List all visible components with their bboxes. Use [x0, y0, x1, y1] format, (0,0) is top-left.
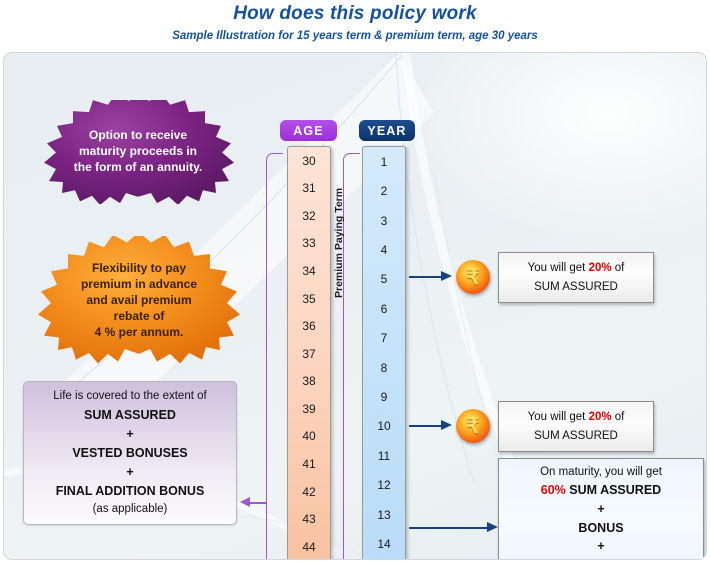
coverage-line-1: Life is covered to the extent of — [53, 388, 206, 405]
premium-paying-term-bracket — [343, 153, 360, 560]
payout-box-year-10: You will get 20% of SUM ASSURED — [498, 401, 654, 452]
life-coverage-box: Life is covered to the extent of SUM ASS… — [23, 381, 237, 525]
payout-2-suffix: of — [612, 411, 625, 423]
coverage-line-6: FINAL ADDITION BONUS — [56, 482, 205, 501]
payout-1-arrow-head-icon — [441, 271, 452, 281]
age-cell: 33 — [288, 230, 330, 258]
year-cell: 15 — [363, 559, 405, 560]
callout-rebate-line-4: rebate of — [59, 309, 219, 325]
callout-premium-rebate: Flexibility to pay premium in advance an… — [28, 236, 250, 366]
maturity-line-4: BONUS — [578, 519, 623, 538]
year-cell: 2 — [363, 176, 405, 205]
callout-rebate-line-1: Flexibility to pay — [59, 261, 219, 277]
year-cell: 12 — [363, 470, 405, 499]
age-cell: 40 — [288, 423, 330, 451]
age-cell: 31 — [288, 175, 330, 203]
callout-rebate-line-3: and avail premium — [59, 293, 219, 309]
age-cell: 41 — [288, 450, 330, 478]
page-title: How does this policy work — [0, 0, 710, 25]
payout-2-line-2: SUM ASSURED — [534, 427, 618, 445]
age-cell: 42 — [288, 478, 330, 506]
age-cell: 39 — [288, 395, 330, 423]
column-header-year: YEAR — [359, 120, 415, 141]
callout-annuity-line-2: maturity proceeds in — [53, 144, 223, 160]
age-cell: 37 — [288, 340, 330, 368]
maturity-arrow-head-icon — [487, 522, 498, 532]
payout-1-percent: 20% — [589, 262, 612, 274]
callout-rebate-line-5: 4 % per annum. — [59, 325, 219, 341]
callout-rebate-text: Flexibility to pay premium in advance an… — [59, 261, 219, 341]
page-subtitle: Sample Illustration for 15 years term & … — [0, 25, 710, 42]
coverage-line-2: SUM ASSURED — [84, 406, 176, 425]
year-cell: 9 — [363, 382, 405, 411]
callout-annuity-line-1: Option to receive — [53, 128, 223, 144]
age-cell: 32 — [288, 202, 330, 230]
payout-2-prefix: You will get — [528, 411, 589, 423]
year-cell: 11 — [363, 441, 405, 470]
year-cell: 5 — [363, 265, 405, 294]
column-header-age: AGE — [280, 120, 337, 141]
payout-2-line-1: You will get 20% of — [528, 408, 625, 426]
payout-2-percent: 20% — [589, 411, 612, 423]
rupee-coin-icon-2: ₹ — [456, 409, 490, 443]
year-cell: 8 — [363, 353, 405, 382]
callout-rebate-line-2: premium in advance — [59, 277, 219, 293]
rupee-coin-icon-1: ₹ — [456, 260, 490, 294]
year-cell: 10 — [363, 412, 405, 441]
payout-2-arrow-head-icon — [441, 420, 452, 430]
year-cell: 6 — [363, 294, 405, 323]
year-cell: 14 — [363, 529, 405, 558]
maturity-line-3: + — [597, 500, 604, 519]
maturity-line-2: 60% SUM ASSURED — [541, 481, 661, 500]
year-cell: 13 — [363, 500, 405, 529]
year-column: 123456789101112131415 — [362, 146, 406, 560]
callout-annuity-text: Option to receive maturity proceeds in t… — [53, 128, 223, 176]
diagram-panel: Option to receive maturity proceeds in t… — [3, 52, 707, 560]
coverage-arrow-head-icon — [240, 497, 250, 507]
payout-1-line-2: SUM ASSURED — [534, 278, 618, 296]
maturity-sum-assured: SUM ASSURED — [566, 483, 661, 497]
payout-1-line-1: You will get 20% of — [528, 259, 625, 277]
year-cell: 3 — [363, 206, 405, 235]
year-cell: 4 — [363, 235, 405, 264]
year-cell: 1 — [363, 147, 405, 176]
callout-annuity-line-3: the form of an annuity. — [53, 160, 223, 176]
age-cell: 36 — [288, 312, 330, 340]
maturity-benefit-box: On maturity, you will get 60% SUM ASSURE… — [498, 458, 704, 560]
coverage-arrow-line — [249, 502, 267, 504]
maturity-line-1: On maturity, you will get — [540, 464, 662, 481]
age-cell: 38 — [288, 368, 330, 396]
age-column: 30313233343536373839404142434445 — [287, 146, 331, 560]
age-cell: 34 — [288, 257, 330, 285]
payout-1-prefix: You will get — [528, 262, 589, 274]
payout-2-arrow-line — [409, 425, 441, 427]
age-cell: 30 — [288, 147, 330, 175]
year-cell: 7 — [363, 323, 405, 352]
age-cell: 43 — [288, 505, 330, 533]
coverage-line-4: VESTED BONUSES — [72, 444, 187, 463]
maturity-arrow-line — [409, 527, 487, 529]
maturity-line-6: FINAL ADDITION BOUNS — [527, 556, 676, 560]
coverage-line-7: (as applicable) — [93, 501, 168, 518]
callout-annuity: Option to receive maturity proceeds in t… — [25, 100, 251, 204]
coverage-line-5: + — [126, 463, 133, 482]
maturity-line-5: + — [597, 537, 604, 556]
age-bracket — [266, 153, 283, 560]
payout-1-suffix: of — [612, 262, 625, 274]
coverage-line-3: + — [126, 425, 133, 444]
age-cell: 44 — [288, 533, 330, 560]
header: How does this policy work Sample Illustr… — [0, 0, 710, 52]
payout-1-arrow-line — [409, 276, 441, 278]
payout-box-year-5: You will get 20% of SUM ASSURED — [498, 252, 654, 303]
age-cell: 35 — [288, 285, 330, 313]
maturity-percent: 60% — [541, 483, 566, 497]
premium-paying-term-label: Premium Paying Term — [333, 158, 345, 298]
